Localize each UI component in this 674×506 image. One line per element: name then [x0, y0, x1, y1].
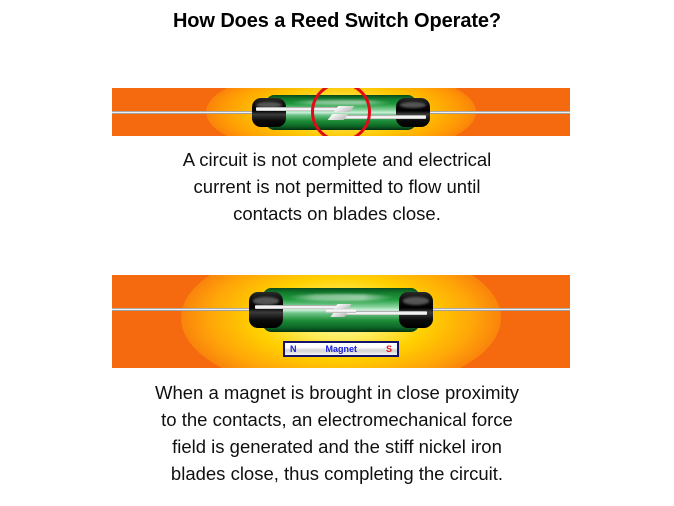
endcap-gloss-graphic [400, 102, 426, 108]
glass-highlight-graphic [287, 294, 395, 301]
figure-reed-switch-open [112, 88, 570, 136]
endcap-left-graphic [249, 292, 283, 329]
page-title: How Does a Reed Switch Operate? [0, 10, 674, 33]
endcap-gloss-graphic [253, 297, 279, 304]
endcap-gloss-graphic [403, 297, 429, 304]
endcap-right-graphic [399, 292, 433, 329]
contact-gap-highlight-circle [311, 88, 371, 136]
magnet-south-pole-label: S [386, 345, 392, 354]
caption-line: When a magnet is brought in close proxim… [0, 379, 674, 406]
magnet-north-pole-label: N [290, 345, 297, 354]
caption-line: field is generated and the stiff nickel … [0, 433, 674, 460]
caption-switch-closed: When a magnet is brought in close proxim… [0, 379, 674, 487]
caption-line: blades close, thus completing the circui… [0, 460, 674, 487]
caption-line: to the contacts, an electromechanical fo… [0, 406, 674, 433]
reed-switch-graphic [243, 288, 439, 332]
caption-line: current is not permitted to flow until [0, 173, 674, 200]
magnet-bar: N Magnet S [283, 341, 399, 357]
figure-reed-switch-closed: N Magnet S [112, 275, 570, 368]
closed-contact-graphic [326, 309, 356, 313]
endcap-left-graphic [252, 98, 286, 127]
caption-line: A circuit is not complete and electrical [0, 146, 674, 173]
endcap-right-graphic [396, 98, 430, 127]
caption-switch-open: A circuit is not complete and electrical… [0, 146, 674, 227]
magnet-body-label: Magnet [325, 345, 357, 354]
caption-line: contacts on blades close. [0, 200, 674, 227]
